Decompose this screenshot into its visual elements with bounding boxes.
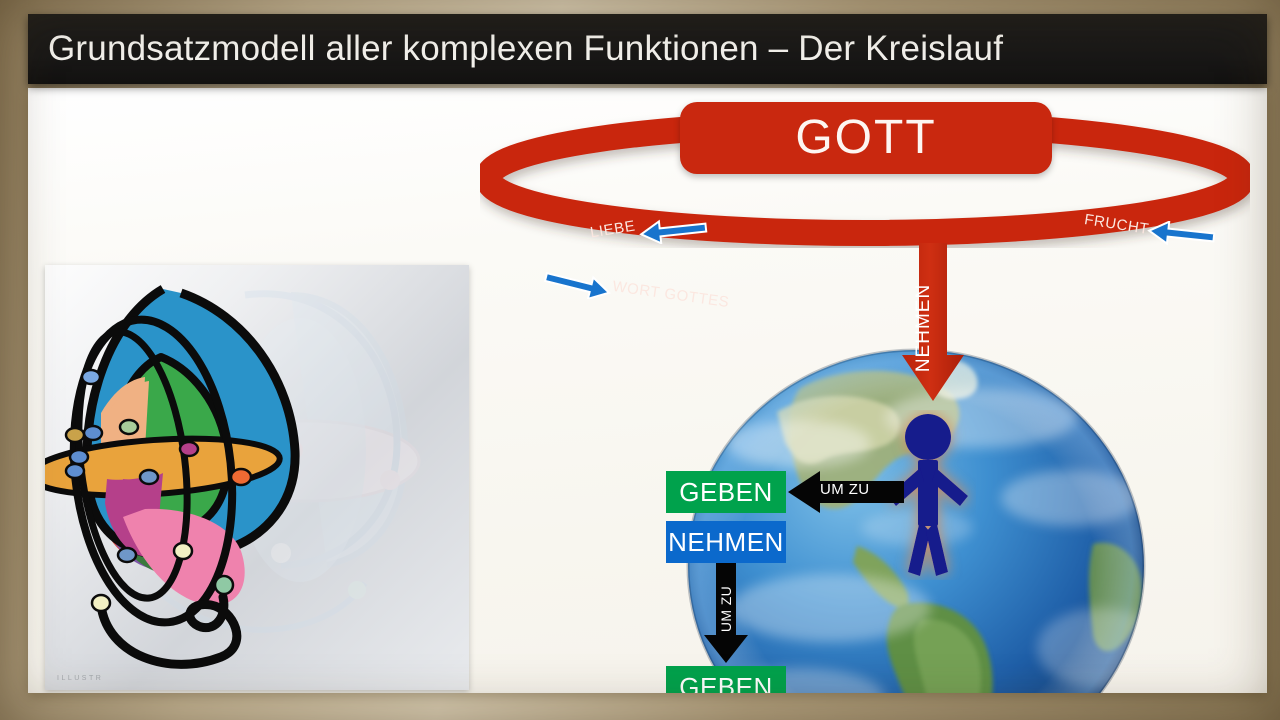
cycle-box-geben-lower[interactable]: GEBEN [666,666,786,693]
ring-label-wort-gottes: WORT GOTTES [611,278,730,311]
arrow-left-icon-liebe [638,218,708,244]
illustration-watermark: ILLUSTR [57,675,103,682]
page-title: Grundsatzmodell aller komplexen Funktion… [28,29,1003,69]
cycle-box-label: GEBEN [679,477,773,508]
abstract-loops-svg [45,265,469,690]
um-zu-left-label: UM ZU [820,481,870,498]
um-zu-down-label: UM ZU [705,574,747,644]
slide-canvas: ILLUSTR GOTT LIEBE WORT GOTTES FRUCHT [28,88,1267,693]
cycle-box-label: NEHMEN [668,527,784,558]
arrow-right-icon-wort-gottes [543,271,613,299]
cycle-box-geben-upper[interactable]: GEBEN [666,471,786,513]
arrow-down-icon-nehmen [900,243,966,403]
god-node-label: GOTT [795,114,936,162]
cycle-box-label: GEBEN [679,672,773,694]
slide-title-bar: Grundsatzmodell aller komplexen Funktion… [28,14,1267,84]
cycle-box-nehmen[interactable]: NEHMEN [666,521,786,563]
slide-root: Grundsatzmodell aller komplexen Funktion… [0,0,1280,720]
abstract-loops-illustration: ILLUSTR [45,265,469,690]
arrow-left-icon-frucht [1146,221,1216,247]
god-node[interactable]: GOTT [680,102,1052,174]
